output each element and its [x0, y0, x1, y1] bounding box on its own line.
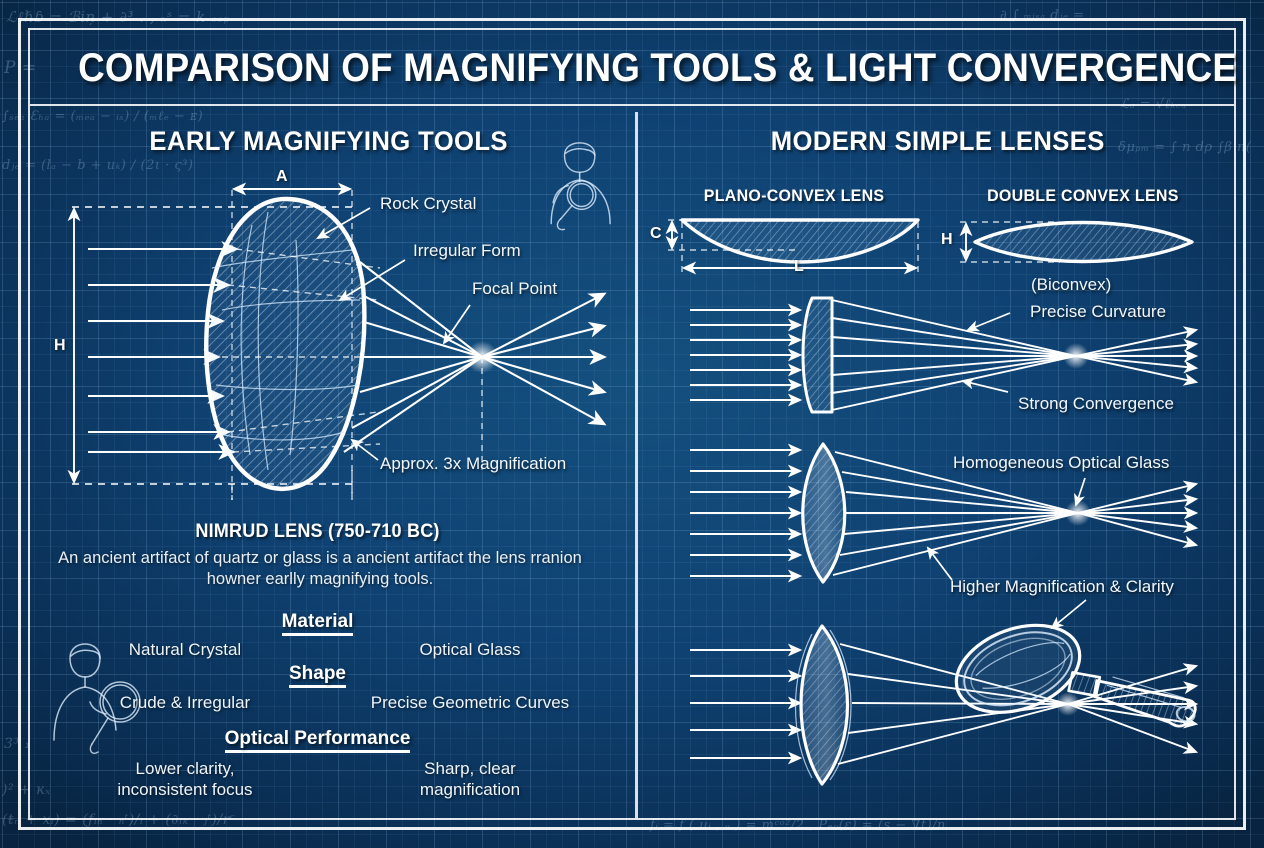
dimension-label-c: C [650, 225, 662, 243]
dimension-label-h2: H [941, 231, 953, 249]
cell-early: Crude & Irregular [60, 692, 310, 713]
blueprint-infographic: ℒℓℏɓ = ℬiņ + ∂³ . , ₙˢ = k ₒₑₚ P = ∫ₛₑₐ … [0, 0, 1264, 848]
cell-early: Natural Crystal [60, 639, 310, 660]
category-heading-optical-performance: Optical Performance [0, 728, 635, 750]
cell-modern: Optical Glass [330, 639, 610, 660]
nimrud-card-title: NIMRUD LENS (750-710 BC) [16, 521, 619, 543]
annotation-higher-magnification: Higher Magnification & Clarity [950, 577, 1174, 597]
label-biconvex: (Biconvex) [1031, 275, 1111, 295]
cell-modern: Precise Geometric Curves [330, 692, 610, 713]
annotation-strong-convergence: Strong Convergence [1018, 394, 1174, 414]
nimrud-card-description: An ancient artifact of quartz or glass i… [55, 548, 585, 590]
cell-modern: Sharp, clear magnification [330, 758, 610, 800]
dimension-label-l: L [794, 258, 804, 276]
category-heading-shape: Shape [0, 663, 635, 685]
right-panel-diagram [0, 0, 1264, 848]
category-label: Optical Performance [225, 728, 411, 753]
category-label: Material [282, 611, 354, 636]
cell-early: Lower clarity, inconsistent focus [60, 758, 310, 800]
annotation-precise-curvature: Precise Curvature [1030, 302, 1166, 322]
annotation-homogeneous-glass: Homogeneous Optical Glass [953, 453, 1169, 473]
category-label: Shape [289, 663, 346, 688]
category-heading-material: Material [0, 611, 635, 633]
